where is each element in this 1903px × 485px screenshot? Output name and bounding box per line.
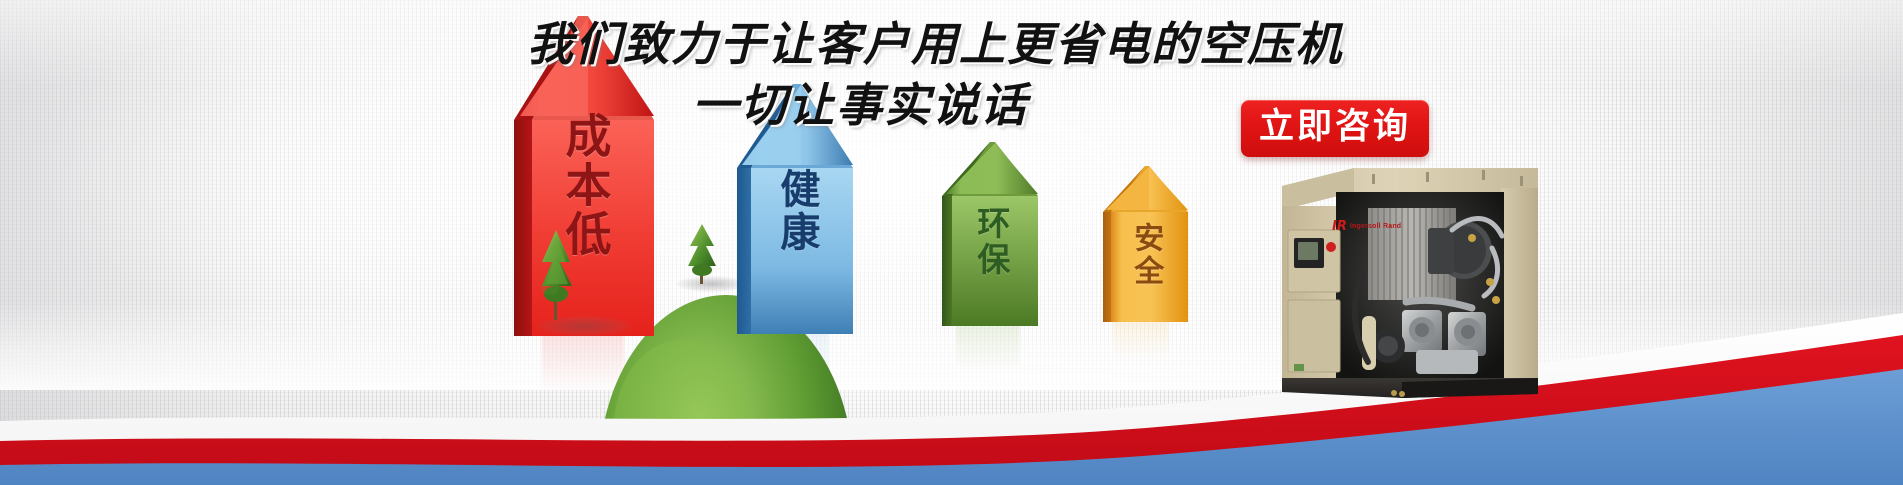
headline-block: 我们致力于让客户用上更省电的空压机 一切让事实说话 [527,18,1317,132]
ir-logo-name: Ingersoll Rand [1350,223,1401,230]
arrow-safety-label: 安全 [1130,222,1161,288]
tree-conifer-mid [686,222,718,284]
headline-line-1: 我们致力于让客户用上更省电的空压机 [527,18,1317,71]
promo-banner: 安全 [0,0,1903,485]
consult-now-button-label: 立即咨询 [1259,110,1411,145]
arrow-environment-label: 环保 [974,206,1008,278]
arrow-environment: 环保 [938,140,1044,326]
air-compressor-image: IR Ingersoll Rand [1276,150,1544,398]
arrow-safety: 安全 [1098,164,1192,322]
headline-line-2: 一切让事实说话 [692,79,1317,132]
arrow-health-label: 健康 [776,168,817,254]
consult-now-button[interactable]: 立即咨询 [1241,100,1429,157]
ingersoll-rand-logo: IR Ingersoll Rand [1332,220,1401,233]
tree-conifer [538,228,574,320]
ir-logo-mark: IR [1332,220,1347,233]
